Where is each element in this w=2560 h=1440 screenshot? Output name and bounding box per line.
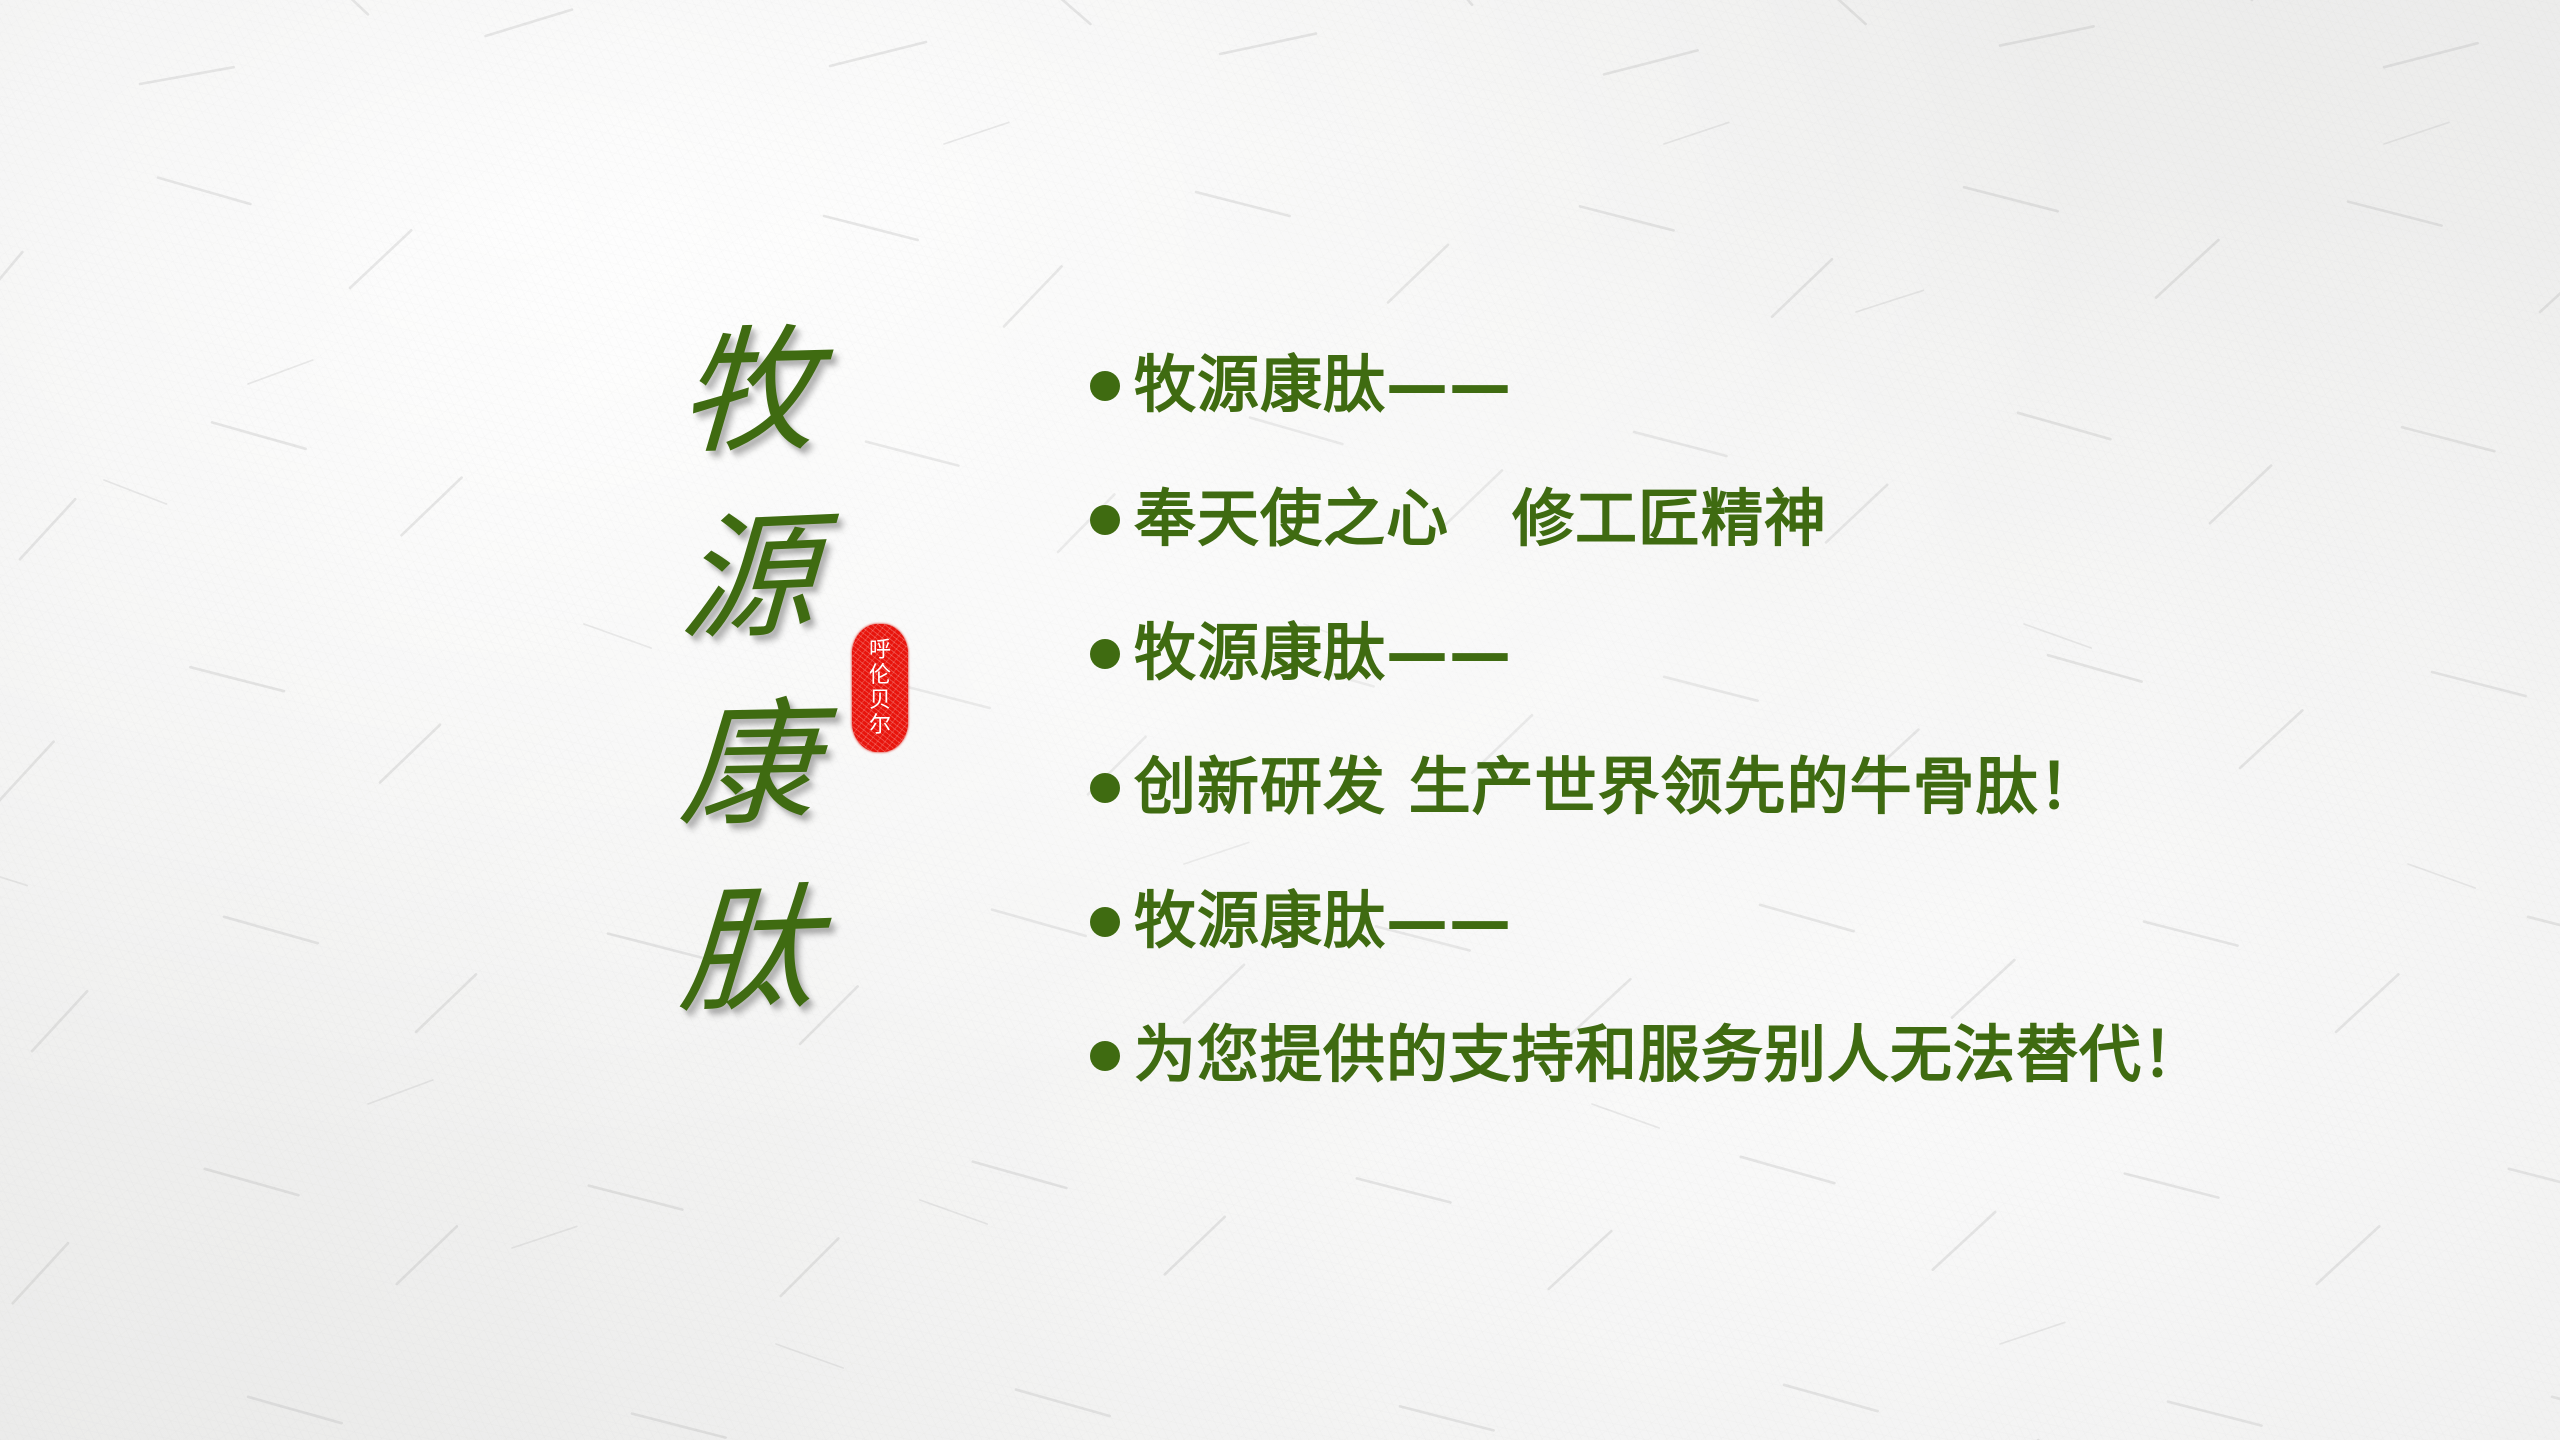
bullet-dot-icon [1090,505,1120,535]
bullet-row-4: 创新研发 生产世界领先的牛骨肽！ [1090,720,2470,854]
bullet-text-1: 牧源康肽—— [1134,354,1512,416]
seal-char-2: 伦 [869,663,891,688]
bullet-row-1: 牧源康肽—— [1090,318,2470,452]
red-seal-stamp: 呼 伦 贝 尔 [852,624,908,752]
slide-canvas: 牧 源 康 肽 呼 伦 贝 尔 牧源康肽—— 奉天使之心 修工匠精神 牧源康肽—… [0,0,2560,1440]
bullet-row-5: 牧源康肽—— [1090,854,2470,988]
bullet-dot-icon [1090,1041,1120,1071]
bullet-dot-icon [1090,907,1120,937]
bullet-text-3: 牧源康肽—— [1134,622,1512,684]
bullet-text-4: 创新研发 生产世界领先的牛骨肽！ [1134,756,2102,818]
title-char-2: 源 [676,483,821,675]
bullet-text-6: 为您提供的支持和服务别人无法替代！ [1134,1024,2205,1086]
title-char-3: 康 [675,671,821,860]
bullet-text-5: 牧源康肽—— [1134,890,1512,952]
bullet-text-2: 奉天使之心 修工匠精神 [1134,488,1827,550]
seal-char-4: 尔 [869,713,891,738]
brand-title-vertical: 牧 源 康 肽 [628,300,868,1045]
bullet-dot-icon [1090,773,1120,803]
title-char-4: 肽 [675,857,821,1048]
slogan-bullet-list: 牧源康肽—— 奉天使之心 修工匠精神 牧源康肽—— 创新研发 生产世界领先的牛骨… [1090,318,2470,1122]
seal-char-1: 呼 [869,638,891,663]
bullet-dot-icon [1090,371,1120,401]
title-char-1: 牧 [676,298,820,488]
bullet-row-2: 奉天使之心 修工匠精神 [1090,452,2470,586]
bullet-row-6: 为您提供的支持和服务别人无法替代！ [1090,988,2470,1122]
bullet-dot-icon [1090,639,1120,669]
bullet-row-3: 牧源康肽—— [1090,586,2470,720]
seal-char-3: 贝 [869,688,891,713]
